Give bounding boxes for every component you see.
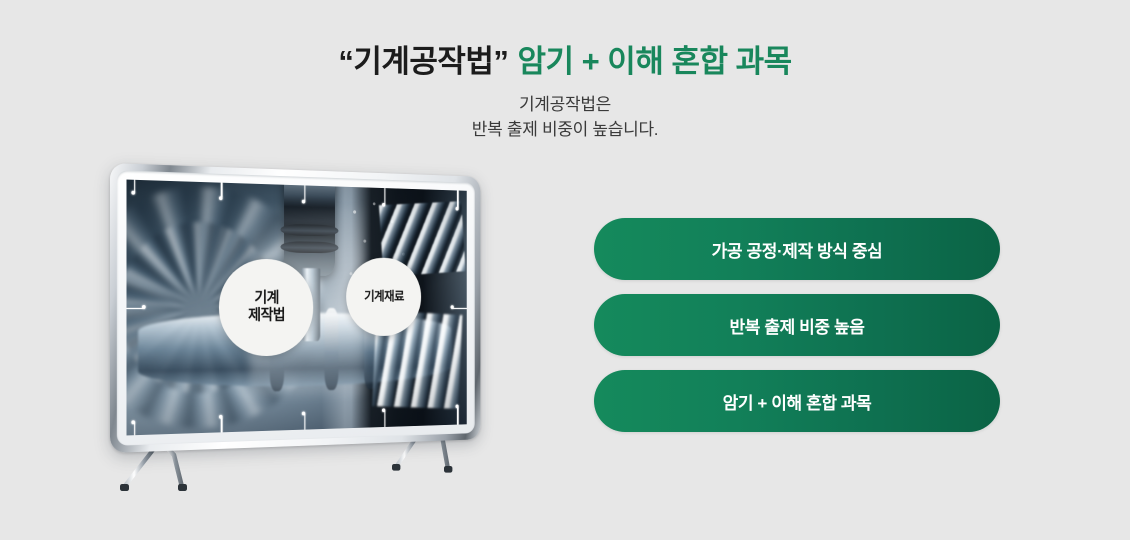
page-subtitle-line-1: 기계공작법은 bbox=[0, 92, 1130, 117]
banner-circle-label-1: 기계 제작법 bbox=[219, 259, 313, 356]
feature-pill-1[interactable]: 가공 공정·제작 방식 중심 bbox=[594, 218, 1000, 280]
banner-circle-label-1-line-1: 기계 bbox=[248, 289, 285, 307]
banner-tie-bottom-3 bbox=[304, 414, 305, 430]
feature-pill-3[interactable]: 암기 + 이해 혼합 과목 bbox=[594, 370, 1000, 432]
page-title: “기계공작법”암기 + 이해 혼합 과목 bbox=[0, 36, 1130, 81]
page-canvas: “기계공작법”암기 + 이해 혼합 과목 기계공작법은 반복 출제 비중이 높습… bbox=[0, 0, 1130, 540]
banner-tie-bottom-5 bbox=[457, 407, 458, 425]
banner-tie-top-4 bbox=[384, 188, 385, 205]
banner-print-surface: 기계 제작법 기계재료 bbox=[126, 180, 466, 436]
banner-circle-label-2-line-1: 기계재료 bbox=[364, 289, 404, 304]
banner-frame: 기계 제작법 기계재료 bbox=[110, 163, 480, 453]
page-subtitle: 기계공작법은 반복 출제 비중이 높습니다. bbox=[0, 92, 1130, 142]
page-title-accent: 암기 + 이해 혼합 과목 bbox=[517, 44, 791, 79]
banner-tie-dot-top-2 bbox=[219, 196, 223, 200]
feature-pill-2[interactable]: 반복 출제 비중 높음 bbox=[594, 294, 1000, 356]
banner-tie-dot-bottom-4 bbox=[382, 408, 385, 412]
banner-circle-label-2: 기계재료 bbox=[346, 257, 421, 337]
banner-stand-illustration: 기계 제작법 기계재료 bbox=[96, 155, 556, 505]
page-title-quoted: “기계공작법” bbox=[338, 44, 508, 79]
banner-circle-label-1-line-2: 제작법 bbox=[248, 308, 285, 326]
banner-tie-dot-bottom-2 bbox=[219, 415, 223, 419]
banner-tie-top-5 bbox=[457, 190, 458, 208]
page-subtitle-line-2: 반복 출제 비중이 높습니다. bbox=[0, 117, 1130, 142]
banner-tie-top-3 bbox=[304, 185, 305, 201]
banner-tie-bottom-2 bbox=[221, 417, 222, 432]
banner-tie-bottom-4 bbox=[384, 410, 385, 427]
banner-tie-dot-bottom-1 bbox=[131, 420, 135, 424]
banner-tie-bottom-1 bbox=[134, 422, 135, 435]
feature-pill-list: 가공 공정·제작 방식 중심 반복 출제 비중 높음 암기 + 이해 혼합 과목 bbox=[594, 218, 1000, 432]
banner-tie-dot-top-5 bbox=[455, 207, 458, 211]
